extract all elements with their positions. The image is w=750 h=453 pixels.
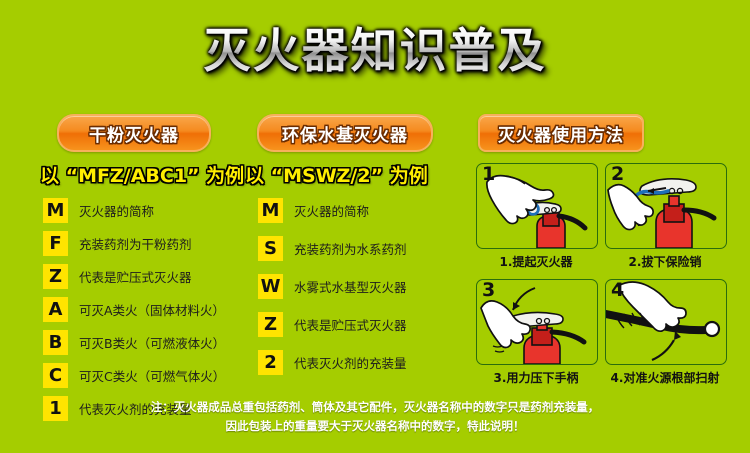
code-badge: F <box>43 231 68 256</box>
code-badge: W <box>258 274 283 299</box>
list-item: C 可灭C类火（可燃气体火） <box>43 363 225 388</box>
list-water-based: M 灭火器的简称 S 充装药剂为水系药剂 W 水雾式水基型灭火器 Z 代表是贮压… <box>258 198 407 388</box>
subtitle-water-based: 以 “MSWZ/2” 为例 <box>245 161 428 188</box>
usage-step-4-frame: 4 <box>605 279 727 365</box>
list-item-text: 代表灭火剂的充装量 <box>294 353 407 372</box>
usage-step-3-frame: 3 <box>476 279 598 365</box>
code-badge: Z <box>258 312 283 337</box>
list-item-text: 灭火器的简称 <box>294 201 369 220</box>
usage-step-2: 2 2.拔下保险销 <box>605 163 725 270</box>
section-heading-usage: 灭火器使用方法 <box>478 114 644 152</box>
code-badge: 2 <box>258 350 283 375</box>
page-title: 灭火器知识普及 <box>204 26 547 78</box>
usage-step-2-frame: 2 <box>605 163 727 249</box>
list-item-text: 可灭A类火（固体材料火） <box>79 300 225 319</box>
list-item: Z 代表是贮压式灭火器 <box>43 264 225 289</box>
usage-step-4-caption: 4.对准火源根部扫射 <box>605 369 725 386</box>
list-item-text: 代表是贮压式灭火器 <box>79 267 192 286</box>
list-item: Z 代表是贮压式灭火器 <box>258 312 407 337</box>
usage-step-2-caption: 2.拔下保险销 <box>605 253 725 270</box>
code-badge: S <box>258 236 283 261</box>
list-item-text: 水雾式水基型灭火器 <box>294 277 407 296</box>
list-item: M 灭火器的简称 <box>43 198 225 223</box>
usage-step-4-number: 4 <box>611 280 624 301</box>
usage-step-3: 3 3.用力压下手柄 <box>476 279 596 386</box>
code-badge: M <box>43 198 68 223</box>
list-item: F 充装药剂为干粉药剂 <box>43 231 225 256</box>
list-item-text: 可灭C类火（可燃气体火） <box>79 366 225 385</box>
usage-step-4: 4 4.对准火源根部扫射 <box>605 279 725 386</box>
section-heading-label: 干粉灭火器 <box>89 121 179 146</box>
code-badge: Z <box>43 264 68 289</box>
section-heading-dry-powder: 干粉灭火器 <box>57 114 211 152</box>
usage-step-3-caption: 3.用力压下手柄 <box>476 369 596 386</box>
list-item-text: 充装药剂为干粉药剂 <box>79 234 192 253</box>
usage-step-1-number: 1 <box>482 164 495 185</box>
usage-step-2-number: 2 <box>611 164 624 185</box>
section-heading-label: 环保水基灭火器 <box>282 121 408 146</box>
list-item: S 充装药剂为水系药剂 <box>258 236 407 261</box>
footer-note: 注：灭火器成品总重包括药剂、筒体及其它配件，灭火器名称中的数字只是药剂充装量， … <box>0 398 750 436</box>
code-badge: B <box>43 330 68 355</box>
usage-step-3-number: 3 <box>482 280 495 301</box>
code-badge: A <box>43 297 68 322</box>
subtitle-dry-powder: 以 “MFZ/ABC1” 为例 <box>40 161 244 188</box>
code-badge: M <box>258 198 283 223</box>
usage-step-1: 1 1.提起灭火器 <box>476 163 596 270</box>
list-item-text: 代表是贮压式灭火器 <box>294 315 407 334</box>
list-item-text: 灭火器的简称 <box>79 201 154 220</box>
list-item: W 水雾式水基型灭火器 <box>258 274 407 299</box>
list-item: B 可灭B类火（可燃液体火） <box>43 330 225 355</box>
poster-root: 灭火器知识普及 干粉灭火器 环保水基灭火器 灭火器使用方法 以 “MFZ/ABC… <box>0 0 750 453</box>
list-item-text: 可灭B类火（可燃液体火） <box>79 333 225 352</box>
list-item-text: 充装药剂为水系药剂 <box>294 239 407 258</box>
footer-note-line-2: 因此包装上的重量要大于灭火器名称中的数字，特此说明！ <box>0 417 750 436</box>
section-heading-label: 灭火器使用方法 <box>498 121 624 146</box>
list-dry-powder: M 灭火器的简称 F 充装药剂为干粉药剂 Z 代表是贮压式灭火器 A 可灭A类火… <box>43 198 225 429</box>
code-badge: C <box>43 363 68 388</box>
section-heading-water-based: 环保水基灭火器 <box>257 114 433 152</box>
usage-steps: 1 1.提起灭火器 <box>476 163 734 386</box>
list-item: A 可灭A类火（固体材料火） <box>43 297 225 322</box>
list-item: M 灭火器的简称 <box>258 198 407 223</box>
page-title-wrap: 灭火器知识普及 <box>0 26 750 78</box>
list-item: 2 代表灭火剂的充装量 <box>258 350 407 375</box>
footer-note-line-1: 注：灭火器成品总重包括药剂、筒体及其它配件，灭火器名称中的数字只是药剂充装量， <box>0 398 750 417</box>
usage-step-1-frame: 1 <box>476 163 598 249</box>
usage-step-1-caption: 1.提起灭火器 <box>476 253 596 270</box>
